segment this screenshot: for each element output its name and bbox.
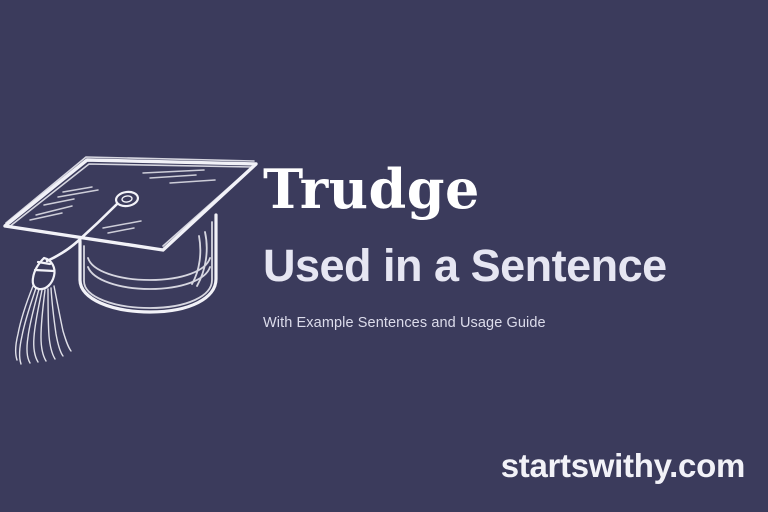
- subtitle: With Example Sentences and Usage Guide: [263, 313, 763, 333]
- brand-domain: startswithy.com: [501, 447, 745, 485]
- graduation-cap-icon: [0, 140, 262, 365]
- promo-card: Trudge Used in a Sentence With Example S…: [0, 0, 768, 512]
- word-title: Trudge: [263, 160, 763, 218]
- text-block: Trudge Used in a Sentence With Example S…: [263, 160, 763, 333]
- headline: Used in a Sentence: [263, 240, 763, 292]
